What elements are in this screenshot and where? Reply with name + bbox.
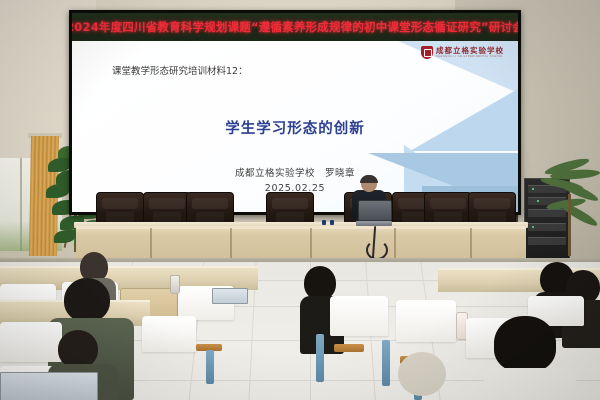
chair-leg: [206, 350, 214, 384]
attendee-laptop: [212, 288, 248, 304]
seat-cover: [142, 316, 196, 352]
slide-author: 成都立格实验学校 罗晓章: [72, 165, 518, 179]
chair-leg: [382, 340, 390, 386]
laptop-screen: [358, 200, 392, 221]
presenter-laptop[interactable]: [356, 200, 392, 226]
attendee-laptop: [0, 372, 98, 400]
microphone: [322, 220, 326, 225]
seat-cover: [0, 322, 62, 362]
shield-icon: [421, 46, 433, 59]
banner-text: 2024年度四川省教育科学规划课题“遵循素养形成规律的初中课堂形态循证研究”研讨…: [72, 19, 518, 35]
presentation-slide: 成都立格实验学校 CHENGDU LI GE EXPERIMENTAL SCHO…: [72, 41, 518, 212]
chair-leg: [316, 334, 324, 382]
microphone: [330, 220, 334, 225]
seat-cover: [396, 300, 456, 342]
thermos-flask: [170, 275, 180, 294]
conference-banner: 2024年度四川省教育科学规划课题“遵循素养形成规律的初中课堂形态循证研究”研讨…: [72, 13, 518, 41]
school-logo: 成都立格实验学校 CHENGDU LI GE EXPERIMENTAL SCHO…: [421, 46, 504, 59]
potted-palm-right: [538, 158, 600, 262]
presenter-hair: [360, 175, 378, 183]
school-name-en: CHENGDU LI GE EXPERIMENTAL SCHOOL: [436, 56, 504, 59]
presentation-photo-scene: 2024年度四川省教育科学规划课题“遵循素养形成规律的初中课堂形态循证研究”研讨…: [0, 0, 600, 400]
chair-armrest: [334, 344, 364, 352]
slide-title: 学生学习形态的创新: [72, 117, 518, 138]
led-display-screen: 2024年度四川省教育科学规划课题“遵循素养形成规律的初中课堂形态循证研究”研讨…: [69, 10, 521, 215]
seat-cover: [330, 296, 388, 336]
slide-kicker: 课堂教学形态研究培训材料12：: [112, 63, 248, 77]
school-name-cn: 成都立格实验学校: [436, 47, 504, 55]
power-cable-loop: [366, 240, 388, 260]
